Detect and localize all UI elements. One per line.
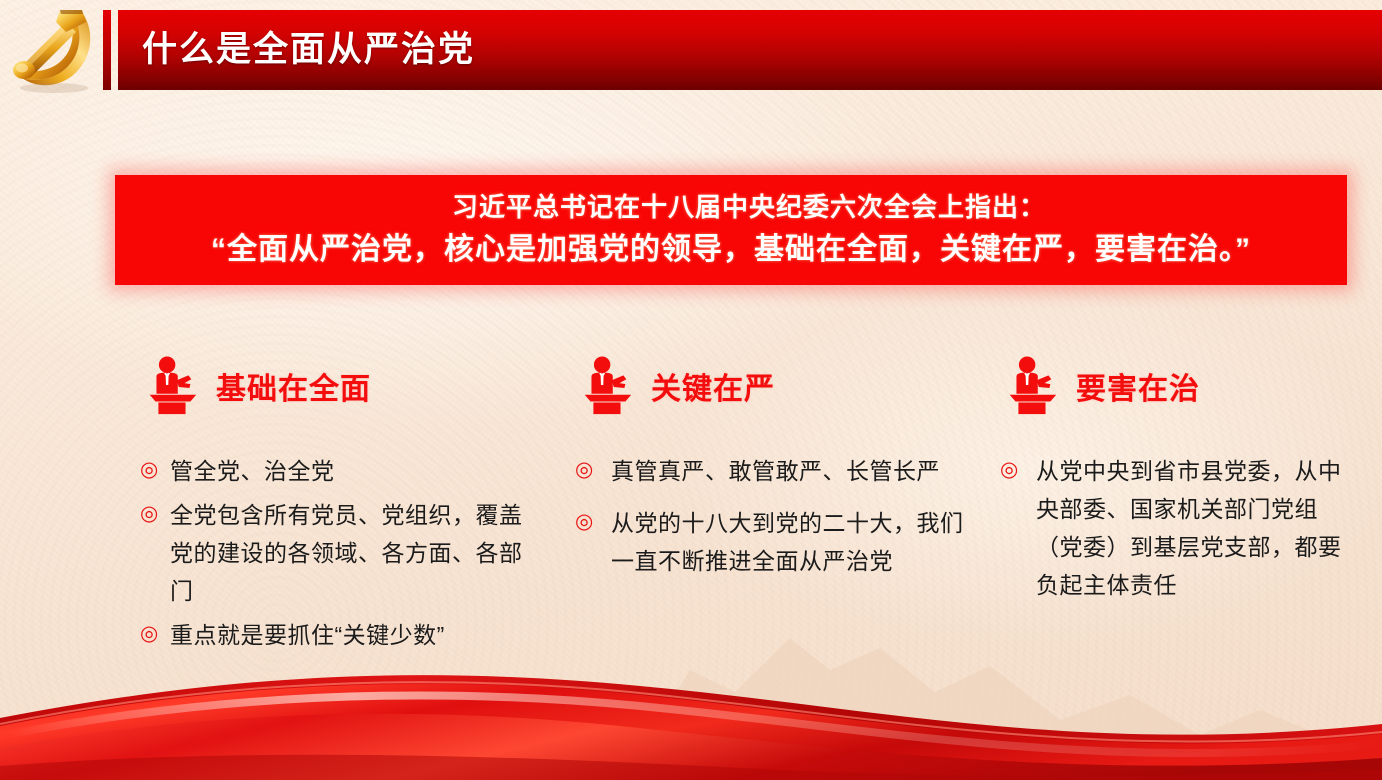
slide-canvas: 什么是全面从严治党 习近平总书记在十八届中央纪委六次全会上指出： “全面从严治党… — [0, 0, 1382, 780]
column-title: 关键在严 — [651, 364, 775, 408]
list-item-text: 从党中央到省市县党委，从中央部委、国家机关部门党组（党委）到基层党支部，都要负起… — [1030, 452, 1350, 604]
column-title: 要害在治 — [1076, 364, 1200, 408]
bullet-circle-icon: ◎ — [575, 504, 605, 540]
podium-speaker-icon — [140, 355, 202, 417]
quote-line-2: “全面从严治党，核心是加强党的领导，基础在全面，关键在严，要害在治。” — [211, 227, 1251, 273]
podium-speaker-icon — [575, 355, 637, 417]
list-item-text: 从党的十八大到党的二十大，我们一直不断推进全面从严治党 — [605, 504, 965, 580]
list-item: ◎ 管全党、治全党 — [140, 452, 540, 490]
page-title: 什么是全面从严治党 — [142, 26, 475, 74]
bullet-list: ◎ 从党中央到省市县党委，从中央部委、国家机关部门党组（党委）到基层党支部，都要… — [1000, 452, 1350, 604]
column-title: 基础在全面 — [216, 364, 371, 408]
column-header: 基础在全面 — [140, 350, 540, 422]
bullet-circle-icon: ◎ — [1000, 452, 1030, 488]
bullet-circle-icon: ◎ — [575, 452, 605, 488]
list-item: ◎ 从党的十八大到党的二十大，我们一直不断推进全面从严治党 — [575, 504, 965, 580]
quote-banner: 习近平总书记在十八届中央纪委六次全会上指出： “全面从严治党，核心是加强党的领导… — [115, 175, 1347, 285]
column-foundation: 基础在全面 ◎ 管全党、治全党 ◎ 全党包含所有党员、党组织，覆盖党的建设的各领… — [140, 350, 540, 660]
bullet-list: ◎ 真管真严、敢管敢严、长管长严 ◎ 从党的十八大到党的二十大，我们一直不断推进… — [575, 452, 965, 580]
red-silk-ribbon-wave — [0, 660, 1382, 780]
list-item: ◎ 全党包含所有党员、党组织，覆盖党的建设的各领域、各方面、各部门 — [140, 496, 540, 610]
bullet-circle-icon: ◎ — [140, 616, 170, 652]
quote-line-1: 习近平总书记在十八届中央纪委六次全会上指出： — [416, 187, 1046, 227]
list-item: ◎ 从党中央到省市县党委，从中央部委、国家机关部门党组（党委）到基层党支部，都要… — [1000, 452, 1350, 604]
column-header: 关键在严 — [575, 350, 965, 422]
party-emblem-hammer-sickle — [4, 2, 104, 94]
list-item-text: 全党包含所有党员、党组织，覆盖党的建设的各领域、各方面、各部门 — [170, 496, 540, 610]
bullet-list: ◎ 管全党、治全党 ◎ 全党包含所有党员、党组织，覆盖党的建设的各领域、各方面、… — [140, 452, 540, 654]
column-header: 要害在治 — [1000, 350, 1350, 422]
podium-speaker-icon — [1000, 355, 1062, 417]
content-columns: 基础在全面 ◎ 管全党、治全党 ◎ 全党包含所有党员、党组织，覆盖党的建设的各领… — [0, 350, 1382, 690]
header-accent-bar — [103, 10, 111, 90]
list-item: ◎ 真管真严、敢管敢严、长管长严 — [575, 452, 965, 490]
bullet-circle-icon: ◎ — [140, 452, 170, 488]
column-governance: 要害在治 ◎ 从党中央到省市县党委，从中央部委、国家机关部门党组（党委）到基层党… — [1000, 350, 1350, 618]
column-strictness: 关键在严 ◎ 真管真严、敢管敢严、长管长严 ◎ 从党的十八大到党的二十大，我们一… — [575, 350, 965, 594]
list-item: ◎ 重点就是要抓住“关键少数” — [140, 616, 540, 654]
list-item-text: 真管真严、敢管敢严、长管长严 — [605, 452, 940, 490]
list-item-text: 重点就是要抓住“关键少数” — [170, 616, 445, 654]
bullet-circle-icon: ◎ — [140, 496, 170, 532]
list-item-text: 管全党、治全党 — [170, 452, 335, 490]
